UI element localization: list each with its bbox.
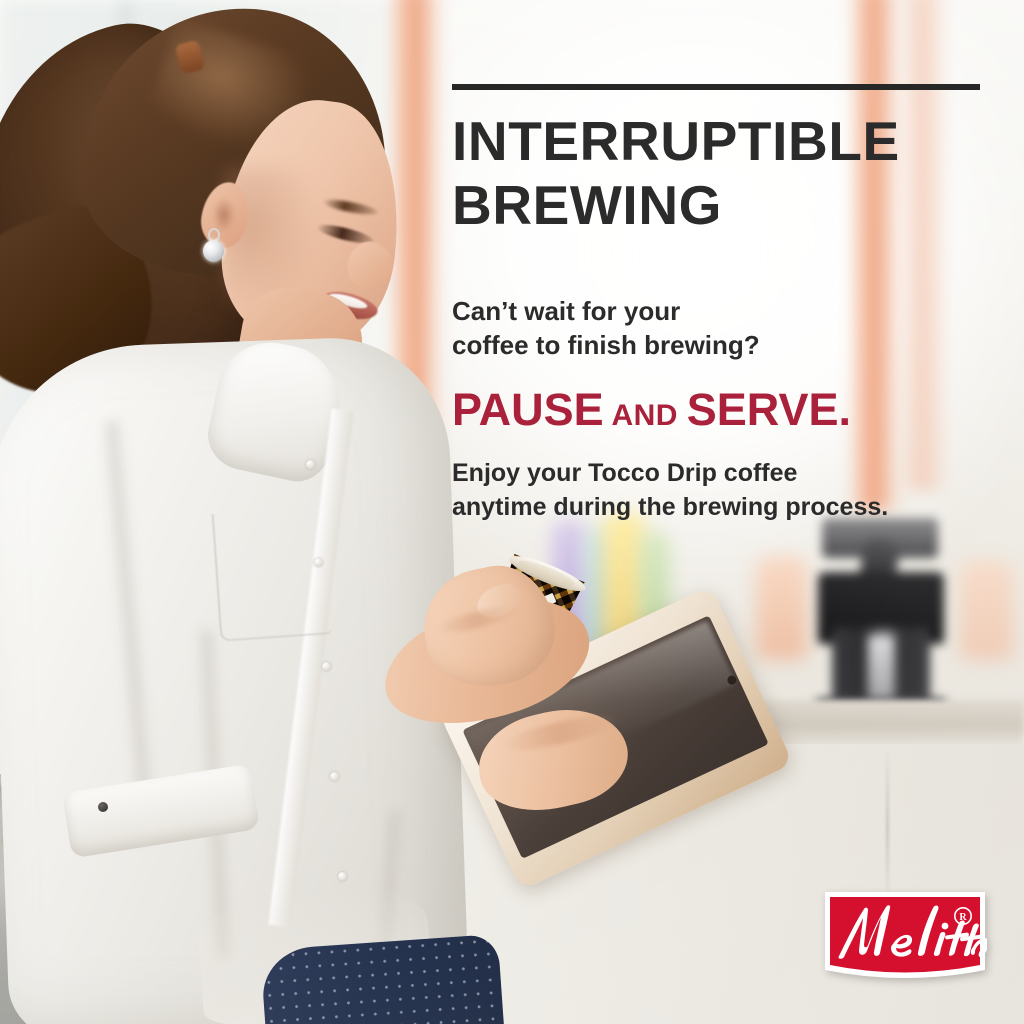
shirt-pocket — [212, 506, 333, 642]
coffee-machine-glass — [868, 636, 894, 700]
woman-subject — [0, 0, 530, 1024]
melitta-logo[interactable]: R — [823, 890, 987, 986]
tagline-word-2: SERVE. — [687, 384, 851, 435]
tagline-conjunction: AND — [604, 399, 687, 432]
copy-block: INTERRUPTIBLE BREWING Can’t wait for you… — [452, 84, 997, 524]
subcopy-line-1: Can’t wait for your — [452, 294, 997, 328]
shirt-button — [330, 772, 339, 781]
subcopy-line-2: coffee to finish brewing? — [452, 328, 997, 362]
cuff-button — [98, 802, 108, 812]
outro-line-1: Enjoy your Tocco Drip coffee — [452, 457, 997, 491]
outro-copy: Enjoy your Tocco Drip coffee anytime dur… — [452, 457, 997, 524]
advertisement-canvas: INTERRUPTIBLE BREWING Can’t wait for you… — [0, 0, 1024, 1024]
tagline: PAUSE AND SERVE. — [452, 386, 997, 433]
sill-jar-peach — [756, 556, 808, 660]
earring-stone — [203, 240, 224, 262]
shirt-button — [314, 558, 323, 567]
ear-inner — [213, 198, 235, 232]
tagline-word-1: PAUSE — [452, 384, 604, 435]
subcopy: Can’t wait for your coffee to finish bre… — [452, 294, 997, 363]
shirt-button — [338, 872, 347, 881]
shirt-button — [322, 662, 331, 671]
headline-line-1: INTERRUPTIBLE — [452, 110, 997, 174]
outro-line-2: anytime during the brewing process. — [452, 491, 997, 525]
headline-rule — [452, 84, 980, 90]
headline: INTERRUPTIBLE BREWING — [452, 110, 997, 238]
cabinet-seam — [886, 748, 889, 908]
sill-jar-peach-2 — [960, 560, 1014, 660]
coffee-machine — [806, 516, 956, 716]
shirt-button — [306, 460, 315, 469]
headline-line-2: BREWING — [452, 174, 997, 238]
svg-text:R: R — [959, 912, 967, 923]
